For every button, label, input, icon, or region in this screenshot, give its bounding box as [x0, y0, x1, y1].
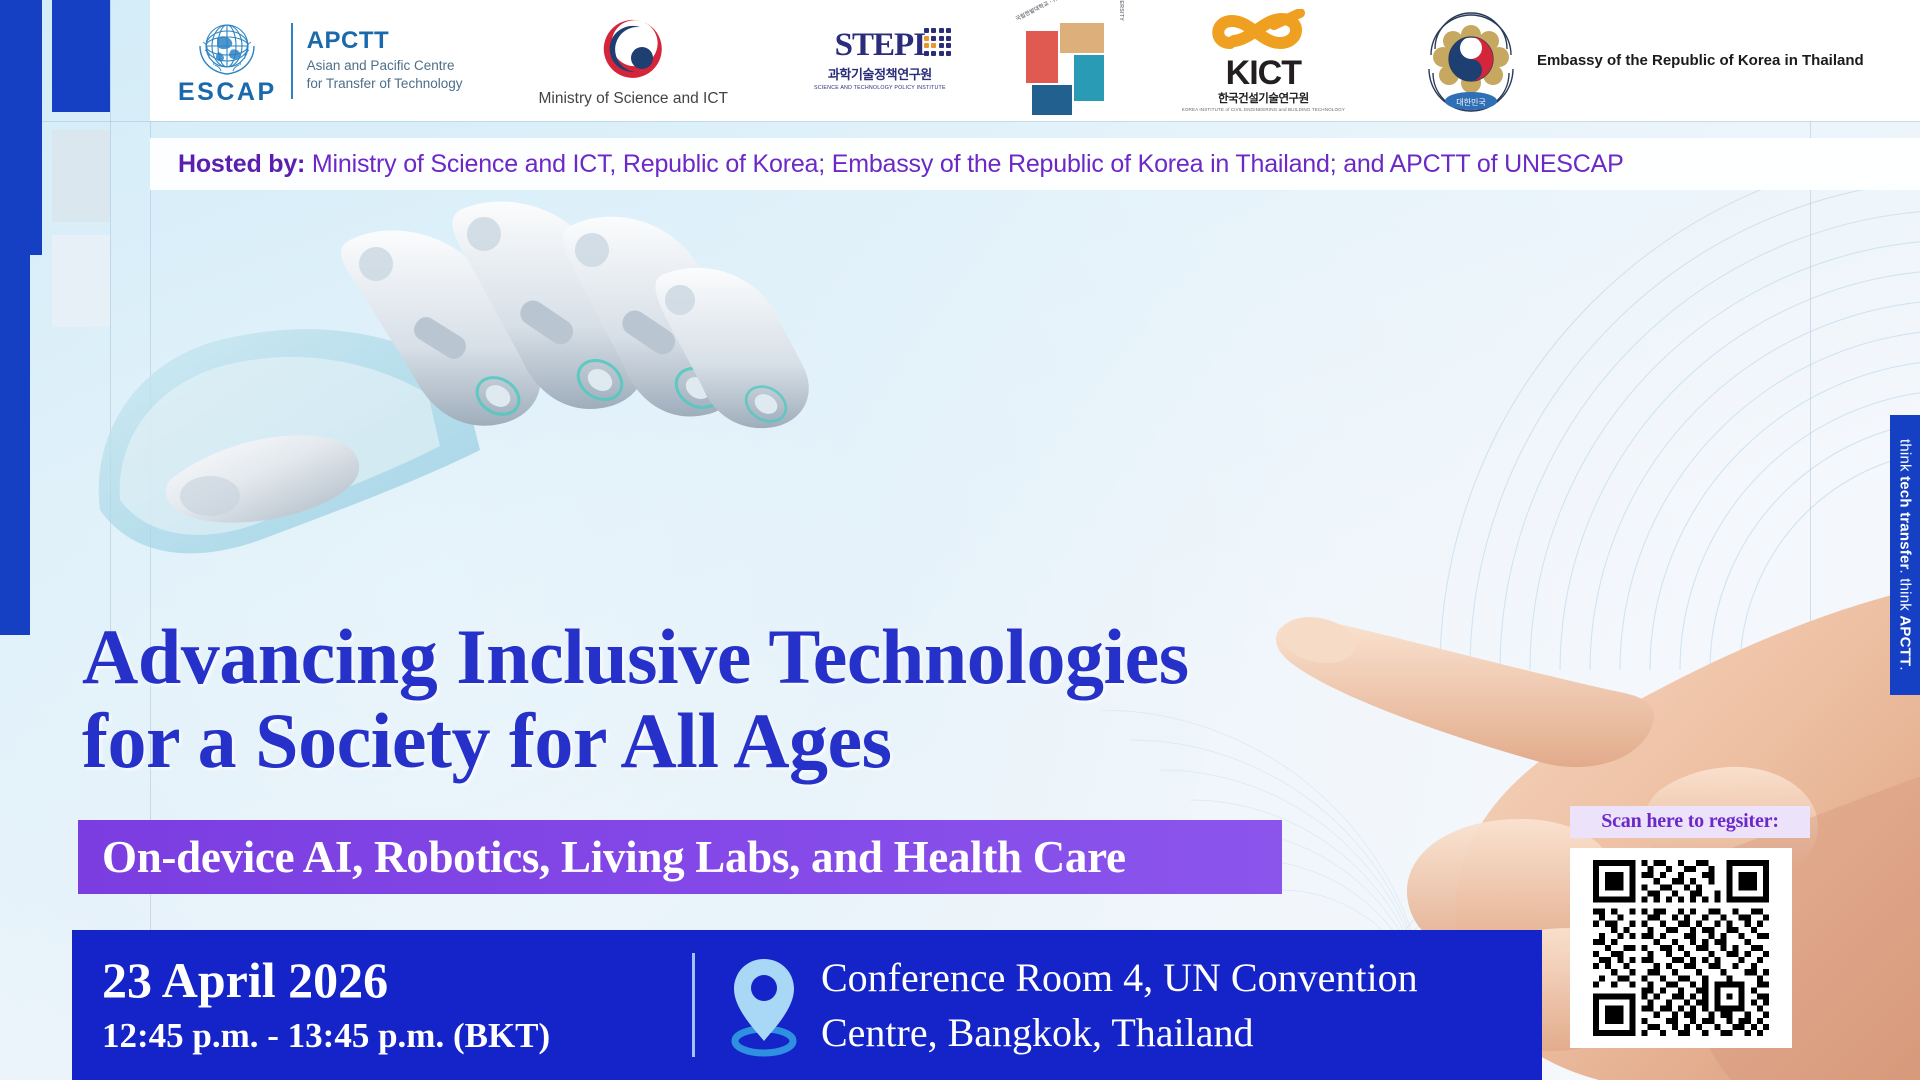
page-title: Advancing Inclusive Technologies for a S…: [82, 615, 1382, 783]
location-pin-icon: [721, 953, 807, 1057]
kict-infinity-icon: [1204, 9, 1322, 59]
svg-text:대한민국: 대한민국: [1456, 97, 1485, 107]
logo-ministry-science-ict: Ministry of Science and ICT: [518, 0, 748, 121]
kict-english: KOREA INSTITUTE of CIVIL ENGINEERING and…: [1182, 107, 1345, 112]
stepi-dots-icon: [924, 28, 951, 55]
apctt-subtitle: Asian and Pacific Centre for Transfer of…: [307, 57, 463, 93]
korea-national-emblem-icon: 대한민국: [1423, 9, 1519, 113]
hanbat-arc-text-english: NATIONAL UNIVERSITY: [1118, 0, 1124, 21]
hosted-by-prefix: Hosted by:: [178, 150, 305, 178]
logo-stepi: STEPI 과학기술정책연구원 SCIENCE AND TECHNOLOGY P…: [800, 0, 960, 121]
event-venue-block: Conference Room 4, UN Convention Centre,…: [807, 950, 1418, 1060]
tagline-part-3: . think: [1897, 570, 1914, 616]
event-venue-line-2: Centre, Bangkok, Thailand: [821, 1005, 1418, 1060]
event-details-divider: [692, 953, 695, 1057]
embassy-label: Embassy of the Republic of Korea in Thai…: [1537, 52, 1864, 69]
guide-line-horizontal-1: [0, 121, 1920, 122]
apctt-tagline-bar: think tech transfer. think APCTT.: [1890, 415, 1920, 695]
event-poster: ESCAP APCTT Asian and Pacific Centre for…: [0, 0, 1920, 1080]
taegeuk-swirl-icon: [595, 14, 671, 84]
apctt-title: APCTT: [307, 28, 463, 54]
subtitle-text: On-device AI, Robotics, Living Labs, and…: [102, 831, 1126, 883]
escap-emblem: ESCAP: [178, 16, 277, 105]
registration-qr-panel: Scan here to regsiter:: [1570, 806, 1810, 1048]
hanbat-pinwheel-icon: [1026, 23, 1104, 101]
event-venue-line-1: Conference Room 4, UN Convention: [821, 950, 1418, 1005]
kict-wordmark: KICT: [1226, 57, 1301, 89]
event-time: 12:45 p.m. - 13:45 p.m. (BKT): [102, 1014, 692, 1058]
title-line-2: for a Society for All Ages: [82, 699, 1382, 783]
event-date: 23 April 2026: [102, 953, 692, 1008]
kict-korean: 한국건설기술연구원: [1218, 90, 1309, 106]
sponsor-logo-strip: ESCAP APCTT Asian and Pacific Centre for…: [150, 0, 1920, 121]
tagline-part-4: APCTT: [1897, 615, 1914, 666]
logo-hanbat-university: 국립한밭대학교 · HANBAT NATIONAL UNIVERSITY: [1012, 9, 1130, 113]
qr-code[interactable]: [1570, 848, 1792, 1048]
un-globe-icon: [190, 16, 264, 84]
hosted-by-bar: Hosted by: Ministry of Science and ICT, …: [150, 138, 1920, 190]
apctt-text-block: APCTT Asian and Pacific Centre for Trans…: [307, 28, 463, 94]
ministry-label: Ministry of Science and ICT: [538, 90, 728, 108]
subtitle-bar: On-device AI, Robotics, Living Labs, and…: [78, 820, 1282, 894]
event-datetime-block: 23 April 2026 12:45 p.m. - 13:45 p.m. (B…: [72, 953, 692, 1058]
logo-divider: [291, 23, 293, 99]
tagline-part-2: tech transfer: [1897, 476, 1914, 569]
tagline-part-1: think: [1897, 439, 1914, 476]
hosted-by-organizations: Ministry of Science and ICT, Republic of…: [305, 150, 1623, 178]
qr-caption: Scan here to regsiter:: [1570, 806, 1810, 838]
robot-hand-illustration: [60, 190, 910, 610]
hosted-by-text: Hosted by: Ministry of Science and ICT, …: [178, 150, 1624, 179]
stepi-wordmark: STEPI: [835, 30, 925, 61]
escap-wordmark: ESCAP: [178, 80, 277, 105]
logo-apctt-escap: ESCAP APCTT Asian and Pacific Centre for…: [178, 0, 472, 121]
event-details-bar: 23 April 2026 12:45 p.m. - 13:45 p.m. (B…: [72, 930, 1542, 1080]
hanbat-arc-text-korean: 국립한밭대학교 · HANBAT: [1014, 0, 1076, 22]
qr-code-image[interactable]: [1582, 860, 1780, 1036]
stepi-english: SCIENCE AND TECHNOLOGY POLICY INSTITUTE: [814, 85, 946, 91]
stepi-korean: 과학기술정책연구원: [828, 64, 932, 83]
apctt-tagline-text: think tech transfer. think APCTT.: [1897, 439, 1914, 671]
apctt-subtitle-line1: Asian and Pacific Centre: [307, 57, 463, 75]
logo-kict: KICT 한국건설기술연구원 KOREA INSTITUTE of CIVIL …: [1166, 0, 1361, 121]
apctt-subtitle-line2: for Transfer of Technology: [307, 75, 463, 93]
tagline-part-5: .: [1897, 666, 1914, 670]
edge-accent-square-1: [52, 0, 110, 112]
title-line-1: Advancing Inclusive Technologies: [82, 615, 1382, 699]
logo-embassy-korea: 대한민국 Embassy of the Republic of Korea in…: [1407, 0, 1864, 121]
stepi-wordmark-text: STEPI: [835, 27, 925, 63]
